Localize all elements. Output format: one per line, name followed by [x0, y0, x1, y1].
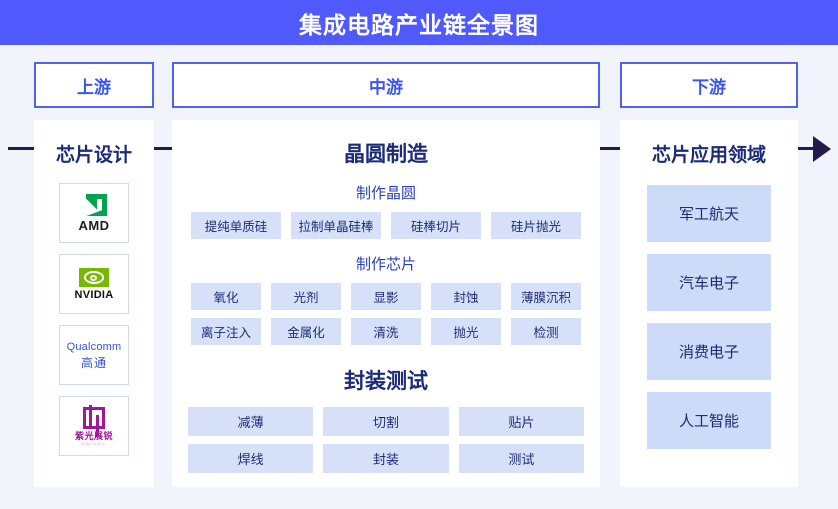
application-item[interactable]: 消费电子	[647, 323, 771, 380]
tag-row-make-chip-2: 离子注入 金属化 清洗 抛光 检测	[172, 318, 600, 345]
page-header: 集成电路产业链全景图	[0, 0, 838, 45]
process-tag[interactable]: 抛光	[431, 318, 501, 345]
chip-application-title: 芯片应用领域	[620, 140, 798, 167]
application-item[interactable]: 汽车电子	[647, 254, 771, 311]
tag-row-make-chip-1: 氧化 光剂 显影 封蚀 薄膜沉积	[172, 283, 600, 310]
stage-chain: 上游 中游 下游	[0, 62, 838, 110]
nvidia-logo-icon	[79, 268, 109, 287]
tag-row-packaging-1: 减薄 切割 贴片	[172, 407, 600, 436]
tag-row-make-wafer: 提纯单质硅 拉制单晶硅棒 硅棒切片 硅片抛光	[172, 212, 600, 239]
process-tag[interactable]: 提纯单质硅	[191, 212, 281, 239]
amd-logo-text: AMD	[78, 219, 109, 232]
process-tag[interactable]: 薄膜沉积	[511, 283, 581, 310]
tag-row-packaging-2: 焊线 封装 测试	[172, 444, 600, 473]
flow-arrow-icon	[813, 136, 831, 162]
process-tag[interactable]: 硅片抛光	[491, 212, 581, 239]
wafer-manufacturing-title: 晶圆制造	[172, 138, 600, 168]
packaging-testing-title: 封装测试	[172, 365, 600, 395]
process-tag[interactable]: 光剂	[271, 283, 341, 310]
wafer-manufacturing-card: 晶圆制造 制作晶圆 提纯单质硅 拉制单晶硅棒 硅棒切片 硅片抛光 制作芯片 氧化…	[172, 120, 600, 487]
connector-line-1	[154, 147, 172, 150]
process-tag[interactable]: 焊线	[188, 444, 313, 473]
stage-box-downstream[interactable]: 下游	[620, 62, 798, 108]
stage-label-midstream: 中游	[369, 73, 403, 98]
stage-label-upstream: 上游	[77, 73, 111, 98]
process-tag[interactable]: 减薄	[188, 407, 313, 436]
application-item[interactable]: 军工航天	[647, 185, 771, 242]
process-tag[interactable]: 氧化	[191, 283, 261, 310]
process-tag[interactable]: 拉制单晶硅棒	[291, 212, 381, 239]
unisoc-logo-en: UNISOC	[81, 442, 106, 446]
process-tag[interactable]: 封装	[323, 444, 448, 473]
unisoc-logo-icon	[83, 407, 105, 429]
vendor-logo-list: AMD NVIDIA Qualcomm 高通 紫光展锐 U	[34, 183, 154, 456]
process-tag[interactable]: 硅棒切片	[391, 212, 481, 239]
page-title: 集成电路产业链全景图	[299, 6, 539, 40]
qualcomm-logo-cn: 高通	[81, 357, 107, 369]
stage-box-upstream[interactable]: 上游	[34, 62, 154, 108]
connector-line-start	[8, 147, 34, 150]
amd-logo-card[interactable]: AMD	[59, 183, 129, 243]
chip-application-card: 芯片应用领域 军工航天 汽车电子 消费电子 人工智能	[620, 120, 798, 487]
process-tag[interactable]: 显影	[351, 283, 421, 310]
unisoc-logo-card[interactable]: 紫光展锐 UNISOC	[59, 396, 129, 456]
process-tag[interactable]: 测试	[459, 444, 584, 473]
unisoc-logo-cn: 紫光展锐	[75, 432, 113, 441]
section-heading-make-chip: 制作芯片	[172, 253, 600, 274]
process-tag[interactable]: 封蚀	[431, 283, 501, 310]
process-tag[interactable]: 离子注入	[191, 318, 261, 345]
process-tag[interactable]: 清洗	[351, 318, 421, 345]
amd-logo-icon	[80, 194, 107, 216]
qualcomm-logo-text: Qualcomm	[67, 342, 122, 353]
connector-line-2	[600, 147, 620, 150]
nvidia-logo-text: NVIDIA	[74, 290, 113, 301]
chip-design-card: 芯片设计 AMD NVIDIA Qualcomm 高	[34, 120, 154, 487]
nvidia-logo-card[interactable]: NVIDIA	[59, 254, 129, 314]
stage-label-downstream: 下游	[692, 73, 726, 98]
chip-design-title: 芯片设计	[34, 140, 154, 167]
process-tag[interactable]: 贴片	[459, 407, 584, 436]
process-tag[interactable]: 检测	[511, 318, 581, 345]
section-heading-make-wafer: 制作晶圆	[172, 182, 600, 203]
stage-box-midstream[interactable]: 中游	[172, 62, 600, 108]
infographic-page: 集成电路产业链全景图 上游 中游 下游 芯片设计 AMD	[0, 0, 838, 509]
application-list: 军工航天 汽车电子 消费电子 人工智能	[620, 185, 798, 449]
qualcomm-logo-card[interactable]: Qualcomm 高通	[59, 325, 129, 385]
process-tag[interactable]: 切割	[323, 407, 448, 436]
application-item[interactable]: 人工智能	[647, 392, 771, 449]
process-tag[interactable]: 金属化	[271, 318, 341, 345]
